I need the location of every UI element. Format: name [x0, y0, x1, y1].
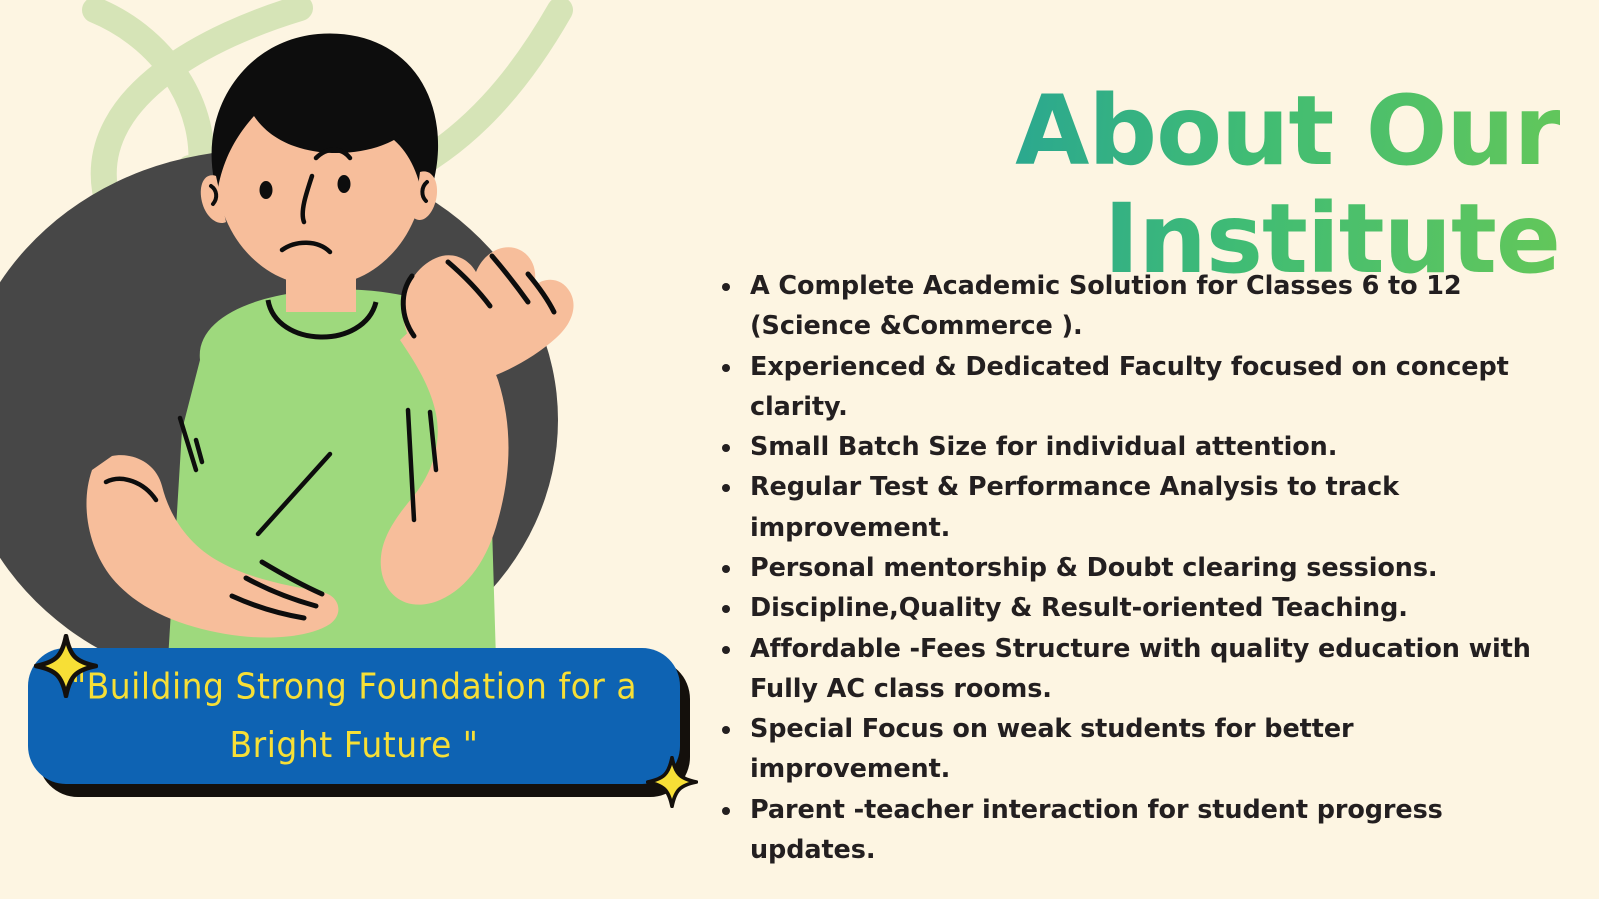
- list-item: A Complete Academic Solution for Classes…: [708, 266, 1538, 347]
- list-item: Personal mentorship & Doubt clearing ses…: [708, 548, 1538, 588]
- boy-illustration: [0, 0, 700, 720]
- left-eye: [260, 181, 273, 199]
- sparkle-star-icon: [34, 634, 98, 698]
- quote-banner: "Building Strong Foundation for a Bright…: [28, 648, 688, 790]
- banner-quote-text: "Building Strong Foundation for a Bright…: [37, 657, 671, 775]
- page-title-line-1: About Our: [730, 78, 1560, 186]
- list-item: Regular Test & Performance Analysis to t…: [708, 467, 1538, 548]
- list-item: Experienced & Dedicated Faculty focused …: [708, 347, 1538, 428]
- right-eye: [338, 175, 351, 193]
- feature-list: A Complete Academic Solution for Classes…: [708, 266, 1538, 870]
- page-title: About Our Institute: [730, 78, 1560, 293]
- list-item: Small Batch Size for individual attentio…: [708, 427, 1538, 467]
- poster-canvas: "Building Strong Foundation for a Bright…: [0, 0, 1599, 899]
- quote-line-2: Bright Future ": [230, 724, 479, 766]
- list-item: Special Focus on weak students for bette…: [708, 709, 1538, 790]
- list-item: Discipline,Quality & Result-oriented Tea…: [708, 588, 1538, 628]
- quote-line-1: "Building Strong Foundation for a: [71, 665, 637, 707]
- content-column: About Our Institute A Complete Academic …: [690, 0, 1599, 899]
- list-item: Parent -teacher interaction for student …: [708, 790, 1538, 871]
- banner-body: "Building Strong Foundation for a Bright…: [28, 648, 680, 784]
- list-item: Affordable -Fees Structure with quality …: [708, 629, 1538, 710]
